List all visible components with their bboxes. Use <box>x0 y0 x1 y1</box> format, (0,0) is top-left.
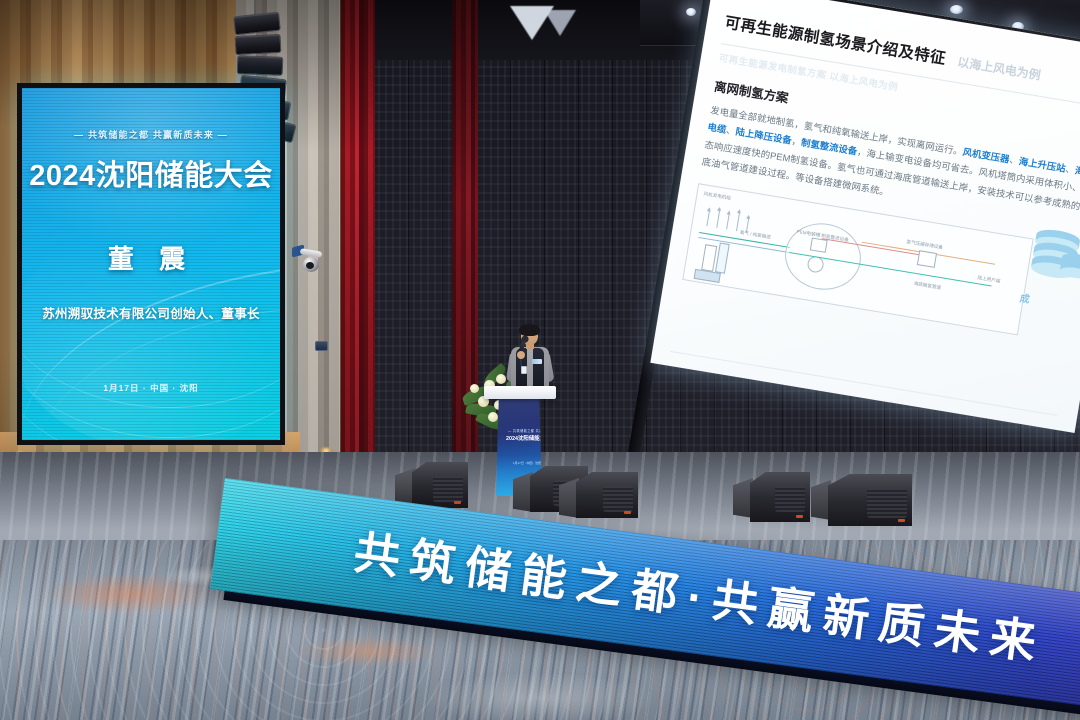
conference-stage-scene: — 共筑储能之都 共赢新质未来 — 2024沈阳储能大会 董 震 苏州溯驭技术有… <box>0 0 1080 720</box>
slide-watermark-logo-icon: 成 <box>1012 220 1080 319</box>
presentation-slide: 可再生能源制氢场景介绍及特征 以海上风电为例 可再生能源发电制氢方案 以海上风电… <box>650 0 1080 433</box>
wall-mounted-device <box>315 341 328 351</box>
stage-monitor-wedge <box>750 472 810 522</box>
slide-subtitle: 以海上风电为例 <box>956 53 1042 83</box>
ceiling-spotlight-icon <box>686 8 696 16</box>
ceiling-spotlight-icon <box>950 5 963 14</box>
diagram-label: 风机发电机组 <box>703 191 731 201</box>
led-kicker-text: — 共筑储能之都 共赢新质未来 — <box>74 128 228 141</box>
stage-monitor-wedge <box>576 472 638 518</box>
hanging-light-cone-icon <box>544 10 576 36</box>
led-speaker-name: 董 震 <box>108 239 194 276</box>
led-speaker-affiliation: 苏州溯驭技术有限公司创始人、董事长 <box>42 303 260 322</box>
podium-title: 2024沈阳储能大会 <box>506 434 548 442</box>
diagram-label: 海底输氢管道 <box>913 280 941 290</box>
red-stage-curtain <box>341 0 375 510</box>
led-display-screen: — 共筑储能之都 共赢新质未来 — 2024沈阳储能大会 董 震 苏州溯驭技术有… <box>22 88 280 440</box>
stage-monitor-wedge <box>412 462 468 508</box>
podium-kicker: — 共筑储能之都 共赢新质未来 — <box>508 428 546 433</box>
led-conference-title: 2024沈阳储能大会 <box>29 152 273 194</box>
ptz-dome-camera-icon <box>300 250 330 276</box>
slide-watermark-text: 成 <box>1019 289 1032 306</box>
led-date-location: 1月17日 · 中国 · 沈阳 <box>103 382 198 394</box>
stage-monitor-wedge <box>828 474 912 526</box>
podium-date: 1月17日 · 中国 · 沈阳 <box>508 461 546 465</box>
